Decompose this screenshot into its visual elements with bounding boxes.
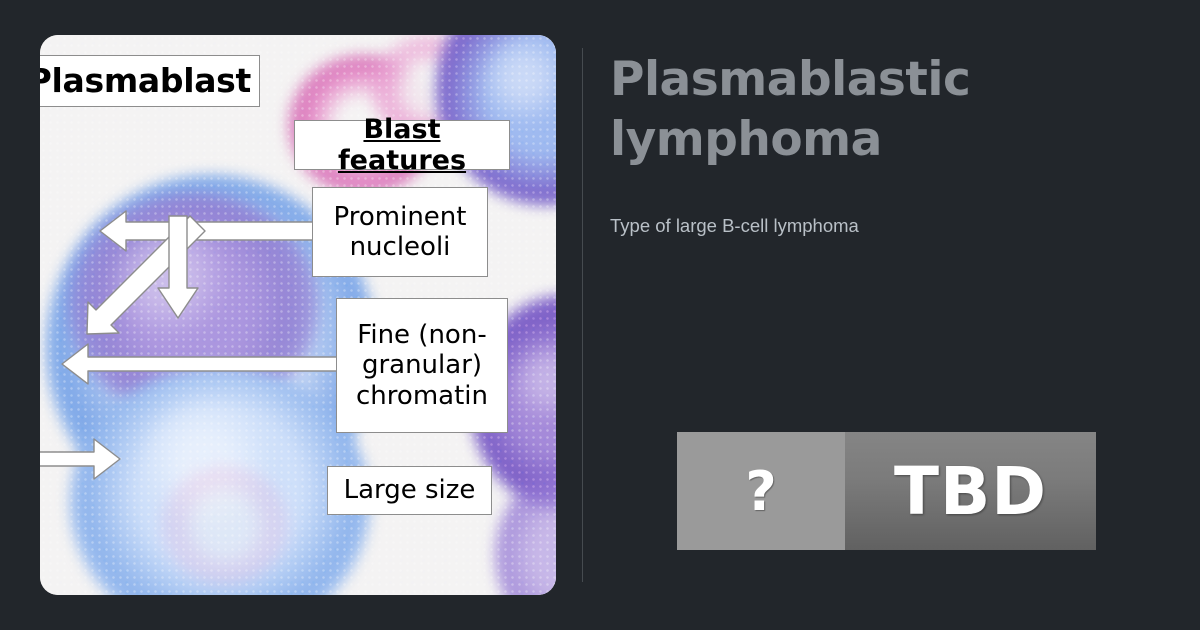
page-subtitle: Type of large B-cell lymphoma	[610, 169, 1150, 237]
status-badge[interactable]: ? TBD	[677, 432, 1096, 550]
micrograph-card[interactable]: Plasmablast Blast features Prominent nuc…	[40, 35, 556, 595]
annotation-label-blast-features: Blast features	[294, 120, 510, 170]
annotation-label-plasmablast: Plasmablast	[40, 55, 260, 107]
annotation-label-fine-chromatin: Fine (non-granular) chromatin	[336, 298, 508, 433]
page-root: Plasmablast Blast features Prominent nuc…	[0, 0, 1200, 630]
page-title: Plasmablastic lymphoma	[610, 50, 1150, 169]
status-badge-label: TBD	[845, 432, 1096, 550]
annotation-label-prominent-nucleoli: Prominent nucleoli	[312, 187, 488, 277]
question-mark-icon: ?	[677, 432, 845, 550]
info-column: Plasmablastic lymphoma Type of large B-c…	[610, 50, 1150, 237]
annotation-label-large-size: Large size	[327, 466, 492, 515]
column-divider	[582, 48, 583, 582]
